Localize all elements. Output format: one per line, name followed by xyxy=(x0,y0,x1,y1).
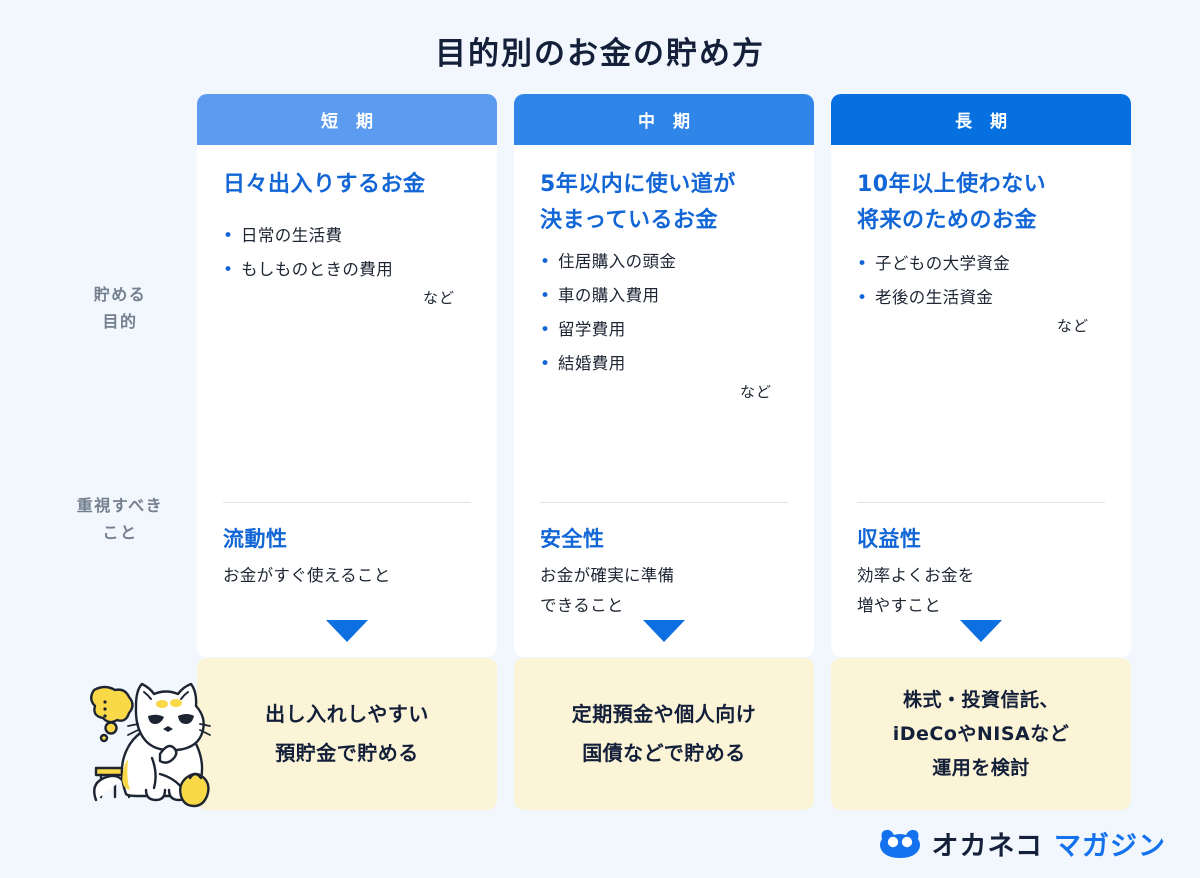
card-divider xyxy=(857,502,1105,503)
list-item: 車の購入費用 xyxy=(540,279,788,313)
list-item: 結婚費用 xyxy=(540,347,788,381)
result-box-mid-term: 定期預金や個人向け 国債などで貯める xyxy=(514,658,814,810)
card-divider xyxy=(540,502,788,503)
focus-block-long-term: 収益性 効率よくお金を 増やすこと xyxy=(857,523,1113,621)
list-item: 子どもの大学資金 xyxy=(857,247,1105,281)
focus-desc-line1: 効率よくお金を xyxy=(857,561,1113,591)
result-line2: 預貯金で貯める xyxy=(265,734,429,773)
column-header-short-term: 短 期 xyxy=(197,94,497,145)
etc-note-long-term: など xyxy=(857,315,1105,336)
cat-face-icon xyxy=(879,829,921,859)
column-body-short-term: 日々出入りするお金 日常の生活費 もしものときの費用 など 流動性 お金がすぐ使… xyxy=(197,145,497,657)
column-header-mid-term: 中 期 xyxy=(514,94,814,145)
focus-desc-line1: お金が確実に準備 xyxy=(540,561,796,591)
result-line1: 出し入れしやすい xyxy=(265,695,429,734)
card-heading-line2: 決まっているお金 xyxy=(540,203,788,239)
row-label-focus-line1: 重視すべき xyxy=(40,492,200,519)
result-box-long-term: 株式・投資信託、 iDeCoやNISAなど 運用を検討 xyxy=(831,658,1131,810)
result-box-short-term: 出し入れしやすい 預貯金で貯める xyxy=(197,658,497,810)
card-heading-line1: 10年以上使わない xyxy=(857,167,1105,203)
list-item: 住居購入の頭金 xyxy=(540,245,788,279)
column-long-term: 長 期 10年以上使わない 将来のためのお金 子どもの大学資金 老後の生活資金 … xyxy=(831,94,1131,657)
etc-note-mid-term: など xyxy=(540,381,788,402)
list-item: 老後の生活資金 xyxy=(857,281,1105,315)
card-heading-mid-term: 5年以内に使い道が 決まっているお金 xyxy=(540,167,788,239)
row-label-focus: 重視すべき こと xyxy=(40,492,200,546)
row-label-purpose-line2: 目的 xyxy=(40,308,200,335)
arrow-down-icon-mid-term xyxy=(643,620,685,642)
etc-note-short-term: など xyxy=(223,287,471,308)
page-title: 目的別のお金の貯め方 xyxy=(0,28,1200,73)
list-item: 留学費用 xyxy=(540,313,788,347)
card-divider xyxy=(223,502,471,503)
column-body-long-term: 10年以上使わない 将来のためのお金 子どもの大学資金 老後の生活資金 など 収… xyxy=(831,145,1131,657)
thinking-cat-illustration xyxy=(74,662,214,812)
logo-name-blue: マガジン xyxy=(1054,824,1166,863)
column-mid-term: 中 期 5年以内に使い道が 決まっているお金 住居購入の頭金 車の購入費用 留学… xyxy=(514,94,814,657)
result-line1: 株式・投資信託、 xyxy=(893,683,1070,717)
result-line1: 定期預金や個人向け xyxy=(572,695,757,734)
focus-desc-short-term: お金がすぐ使えること xyxy=(223,561,479,591)
row-label-focus-line2: こと xyxy=(40,519,200,546)
purpose-list-mid-term: 住居購入の頭金 車の購入費用 留学費用 結婚費用 xyxy=(540,245,788,381)
card-heading-line2: 将来のためのお金 xyxy=(857,203,1105,239)
card-heading-line1: 5年以内に使い道が xyxy=(540,167,788,203)
focus-title-long-term: 収益性 xyxy=(857,523,1113,555)
result-line3: 運用を検討 xyxy=(893,751,1070,785)
row-label-purpose-line1: 貯める xyxy=(40,281,200,308)
focus-title-short-term: 流動性 xyxy=(223,523,479,555)
logo-name-dark: オカネコ xyxy=(932,824,1043,863)
arrow-down-icon-long-term xyxy=(960,620,1002,642)
focus-desc-long-term: 効率よくお金を 増やすこと xyxy=(857,561,1113,621)
focus-desc-line2: できること xyxy=(540,591,796,621)
list-item: もしものときの費用 xyxy=(223,253,471,287)
focus-desc-line2: 増やすこと xyxy=(857,591,1113,621)
purpose-list-short-term: 日常の生活費 もしものときの費用 xyxy=(223,219,471,287)
card-heading-short-term: 日々出入りするお金 xyxy=(223,167,471,203)
arrow-down-icon-short-term xyxy=(326,620,368,642)
infographic-page: 目的別のお金の貯め方 貯める 目的 重視すべき こと 短 期 日々出入りするお金… xyxy=(0,0,1200,878)
result-line2: 国債などで貯める xyxy=(572,734,757,773)
focus-block-short-term: 流動性 お金がすぐ使えること xyxy=(223,523,479,591)
column-header-long-term: 長 期 xyxy=(831,94,1131,145)
result-line2: iDeCoやNISAなど xyxy=(893,717,1070,751)
row-label-purpose: 貯める 目的 xyxy=(40,281,200,335)
site-logo[interactable]: オカネコ マガジン xyxy=(879,824,1166,863)
focus-block-mid-term: 安全性 お金が確実に準備 できること xyxy=(540,523,796,621)
card-heading-long-term: 10年以上使わない 将来のためのお金 xyxy=(857,167,1105,239)
column-body-mid-term: 5年以内に使い道が 決まっているお金 住居購入の頭金 車の購入費用 留学費用 結… xyxy=(514,145,814,657)
focus-title-mid-term: 安全性 xyxy=(540,523,796,555)
focus-desc-mid-term: お金が確実に準備 できること xyxy=(540,561,796,621)
purpose-list-long-term: 子どもの大学資金 老後の生活資金 xyxy=(857,247,1105,315)
column-short-term: 短 期 日々出入りするお金 日常の生活費 もしものときの費用 など 流動性 お金… xyxy=(197,94,497,657)
list-item: 日常の生活費 xyxy=(223,219,471,253)
